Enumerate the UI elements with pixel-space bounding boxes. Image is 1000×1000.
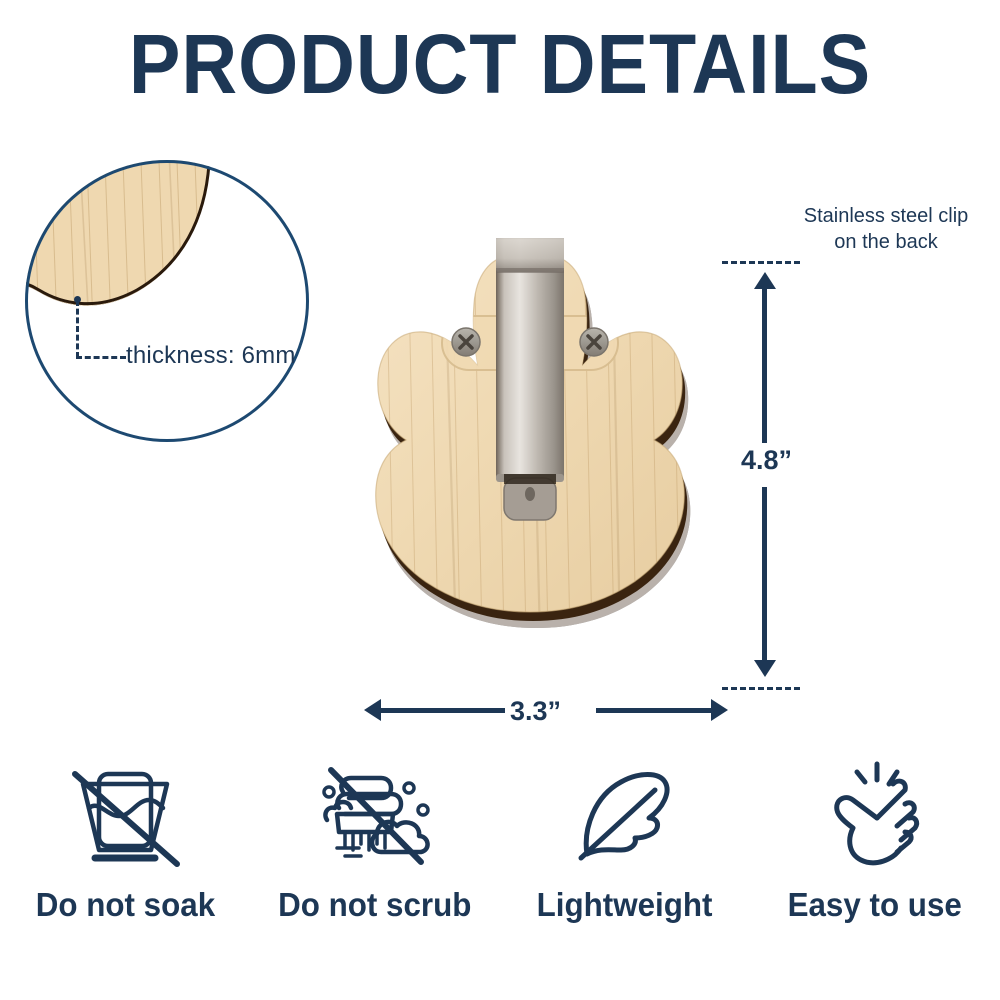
feature-row: Do not soak Do not scrub	[0, 756, 1000, 924]
clip-note-line2: on the back	[786, 229, 986, 255]
clip-note: Stainless steel clip on the back	[786, 203, 986, 255]
height-extension-line-top	[722, 261, 800, 264]
screw-right	[580, 328, 608, 356]
feature-label: Do not scrub	[278, 886, 471, 924]
product-image	[344, 238, 716, 690]
height-arrow-down	[754, 660, 776, 677]
no-soak-icon	[55, 756, 195, 876]
thickness-callout	[25, 160, 309, 442]
page-title: PRODUCT DETAILS	[40, 22, 960, 106]
thickness-leader-vertical	[76, 300, 79, 358]
width-dimension-label: 3.3”	[505, 694, 566, 729]
callout-circle-outline	[25, 160, 309, 442]
no-scrub-brush-icon	[305, 756, 445, 876]
feature-easy-to-use: Easy to use	[750, 756, 1000, 924]
feature-do-not-scrub: Do not scrub	[250, 756, 500, 924]
thickness-leader-horizontal	[76, 356, 126, 359]
snapping-fingers-icon	[805, 756, 945, 876]
feather-icon	[555, 756, 695, 876]
height-line-lower	[762, 487, 767, 662]
width-arrow-right	[711, 699, 728, 721]
feature-lightweight: Lightweight	[500, 756, 750, 924]
width-line-left	[379, 708, 509, 713]
paw-plaque-photo	[344, 238, 716, 690]
width-line-right	[596, 708, 715, 713]
screw-left	[452, 328, 480, 356]
thickness-label: thickness: 6mm	[126, 342, 296, 370]
feature-do-not-soak: Do not soak	[0, 756, 250, 924]
stainless-steel-clip	[496, 238, 564, 520]
feature-label: Do not soak	[35, 886, 214, 924]
feature-label: Lightweight	[537, 886, 713, 924]
clip-note-line1: Stainless steel clip	[786, 203, 986, 229]
height-extension-line-bottom	[722, 687, 800, 690]
height-line-upper	[762, 285, 767, 445]
feature-label: Easy to use	[788, 886, 962, 924]
height-dimension-label: 4.8”	[735, 443, 798, 478]
